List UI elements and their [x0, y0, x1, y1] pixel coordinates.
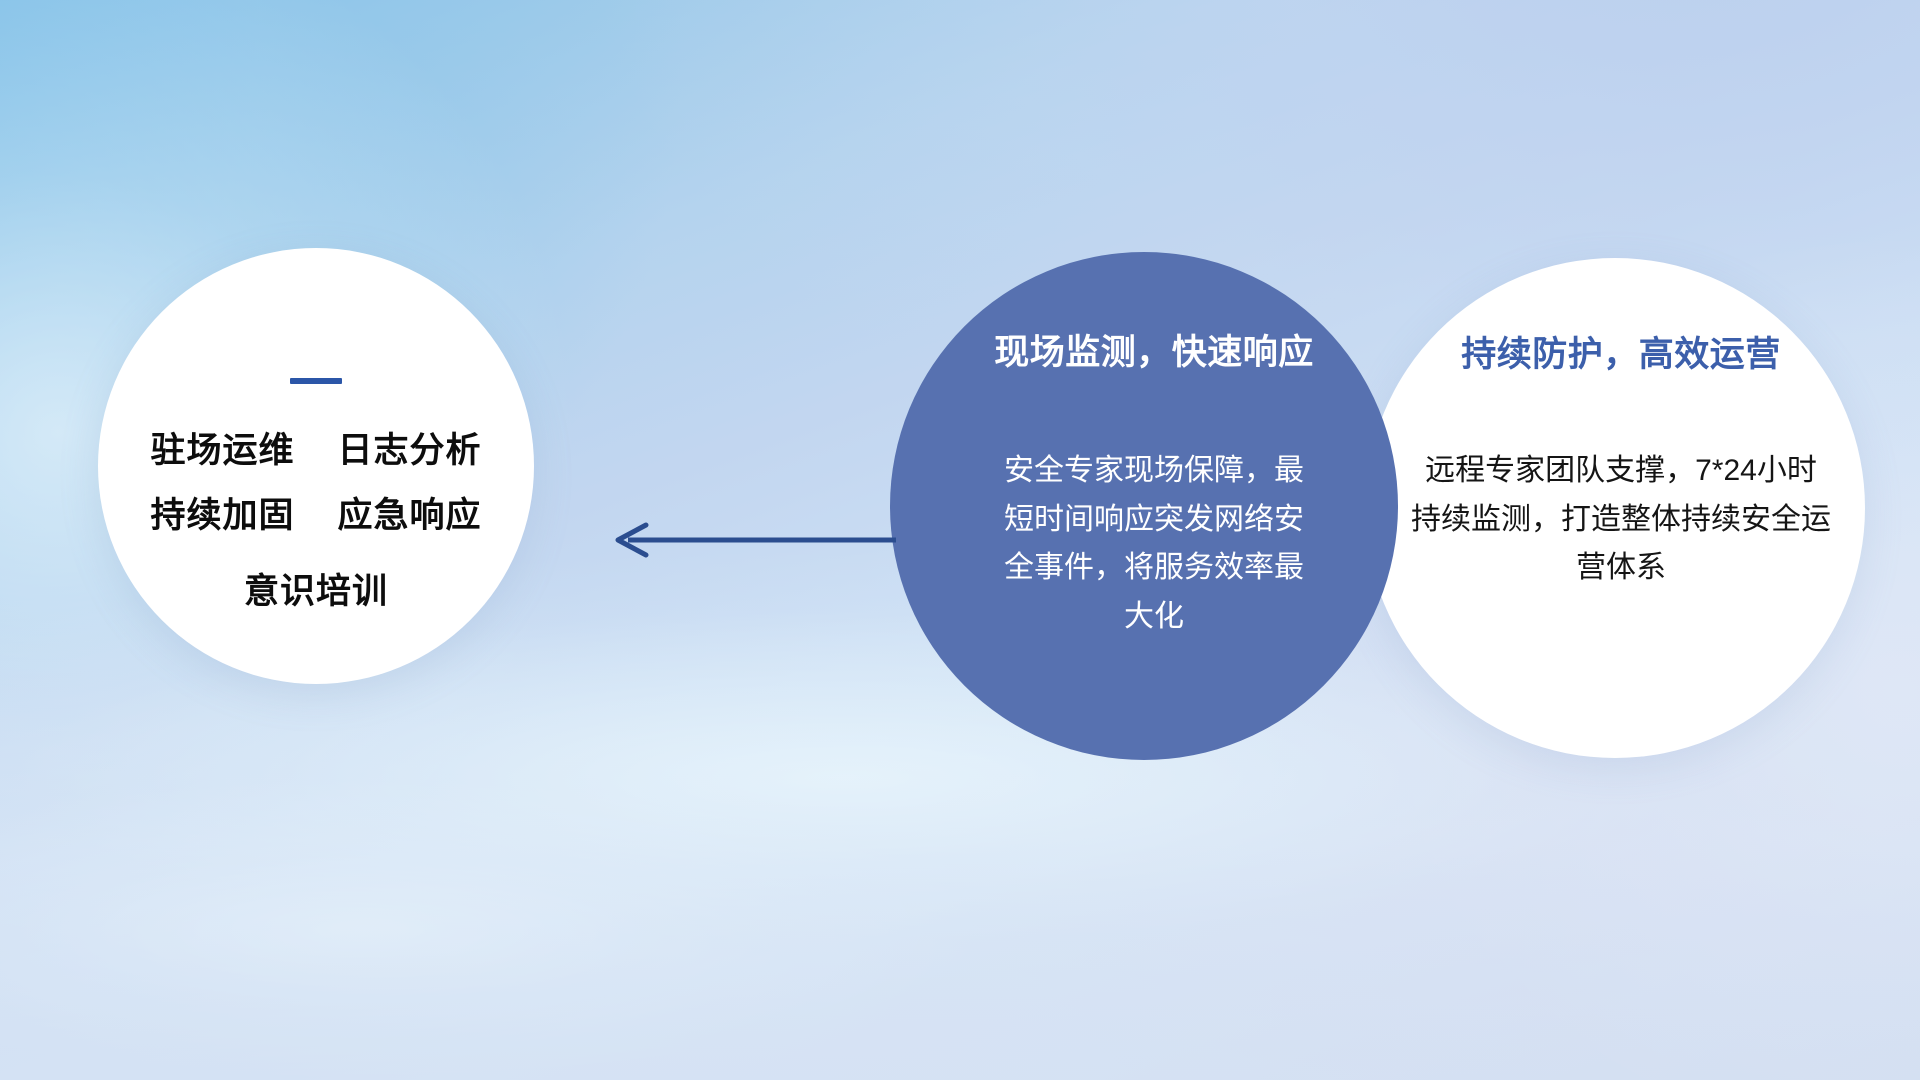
left-circle-content: 驻场运维 日志分析 持续加固 应急响应 意识培训	[98, 248, 534, 684]
right-circle-body: 远程专家团队支撑，7*24小时持续监测，打造整体持续安全运营体系	[1411, 447, 1831, 593]
left-pointing-arrow	[600, 510, 900, 570]
slide-canvas: 驻场运维 日志分析 持续加固 应急响应 意识培训 现场监测，快速响应 安全专家现…	[0, 0, 1920, 1080]
center-circle-body: 安全专家现场保障，最短时间响应突发网络安全事件，将服务效率最大化	[1004, 447, 1304, 641]
left-circle-line-3: 意识培训	[244, 573, 388, 612]
blue-dash-divider	[290, 378, 342, 384]
center-circle-content: 现场监测，快速响应 安全专家现场保障，最短时间响应突发网络安全事件，将服务效率最…	[890, 252, 1398, 760]
right-circle-content: 持续防护，高效运营 远程专家团队支撑，7*24小时持续监测，打造整体持续安全运营…	[1365, 258, 1865, 758]
left-circle-line-1: 驻场运维 日志分析	[151, 432, 482, 471]
center-circle-title: 现场监测，快速响应	[994, 324, 1314, 375]
left-circle-line-2: 持续加固 应急响应	[151, 497, 482, 536]
right-circle-title: 持续防护，高效运营	[1461, 326, 1781, 377]
